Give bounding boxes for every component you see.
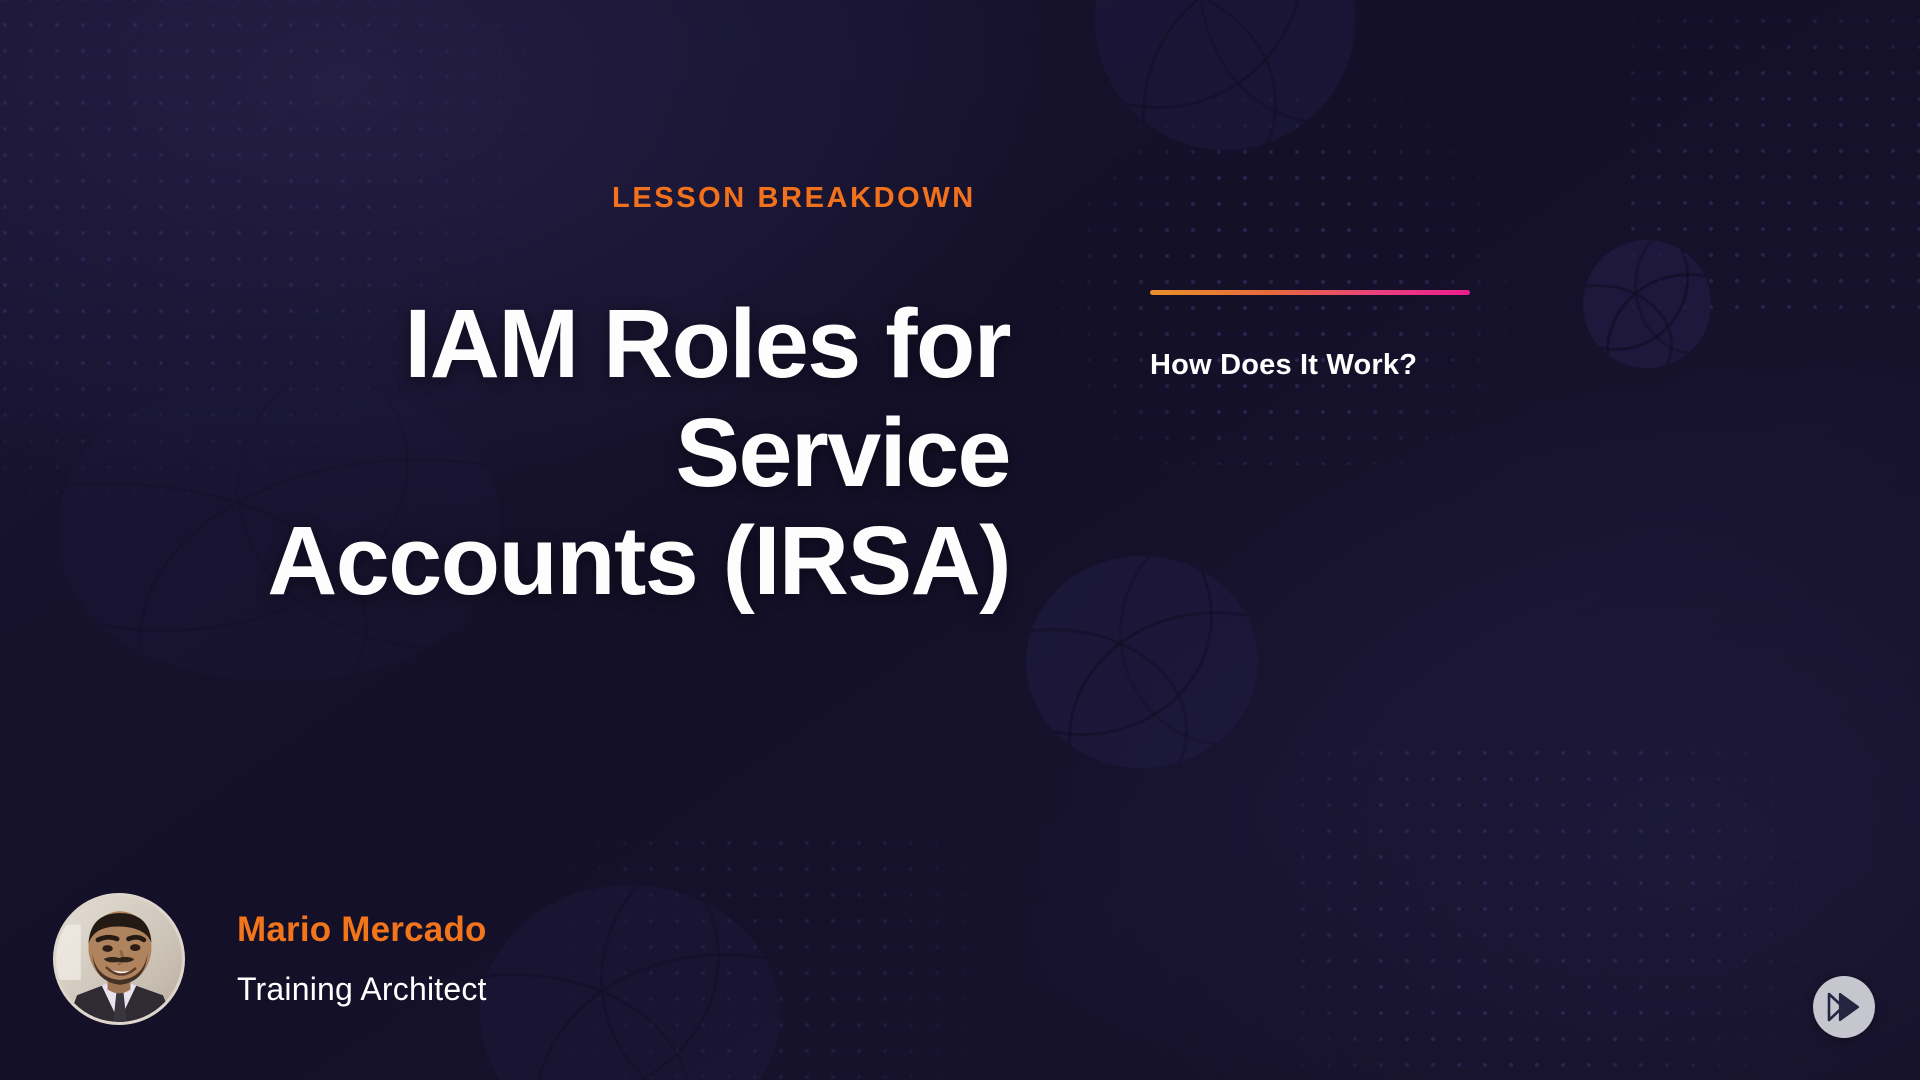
title-line-1: IAM Roles for [80,290,1010,399]
subheading-panel: How Does It Work? [1150,290,1480,382]
presenter-name: Mario Mercado [237,911,487,950]
title-line-3: Accounts (IRSA) [80,507,1010,616]
title-line-2: Service [80,399,1010,508]
presenter-credit: Mario Mercado Training Architect [53,893,487,1025]
gradient-accent-rule [1150,290,1470,295]
sphere-decoration-center [1026,556,1258,768]
avatar [53,893,185,1025]
sphere-decoration-right [1583,240,1711,368]
presentation-slide: LESSON BREAKDOWN IAM Roles for Service A… [0,0,1920,1080]
subheading-text: How Does It Work? [1150,349,1480,382]
dot-pattern-decoration-bottom-right [1290,740,1810,1080]
dot-pattern-decoration-top-right [1620,0,1920,330]
sphere-decoration-top [1095,0,1355,150]
page-title: IAM Roles for Service Accounts (IRSA) [80,290,1010,616]
brand-badge-button[interactable] [1813,976,1875,1038]
double-play-icon [1826,992,1862,1022]
lesson-breakdown-eyebrow: LESSON BREAKDOWN [612,182,976,215]
dot-pattern-decoration-bottom-left [560,830,980,1080]
dot-pattern-decoration-top-center [1050,35,1520,465]
sphere-decoration-bottom [480,885,780,1080]
presenter-text: Mario Mercado Training Architect [237,911,487,1007]
presenter-role: Training Architect [237,972,487,1007]
